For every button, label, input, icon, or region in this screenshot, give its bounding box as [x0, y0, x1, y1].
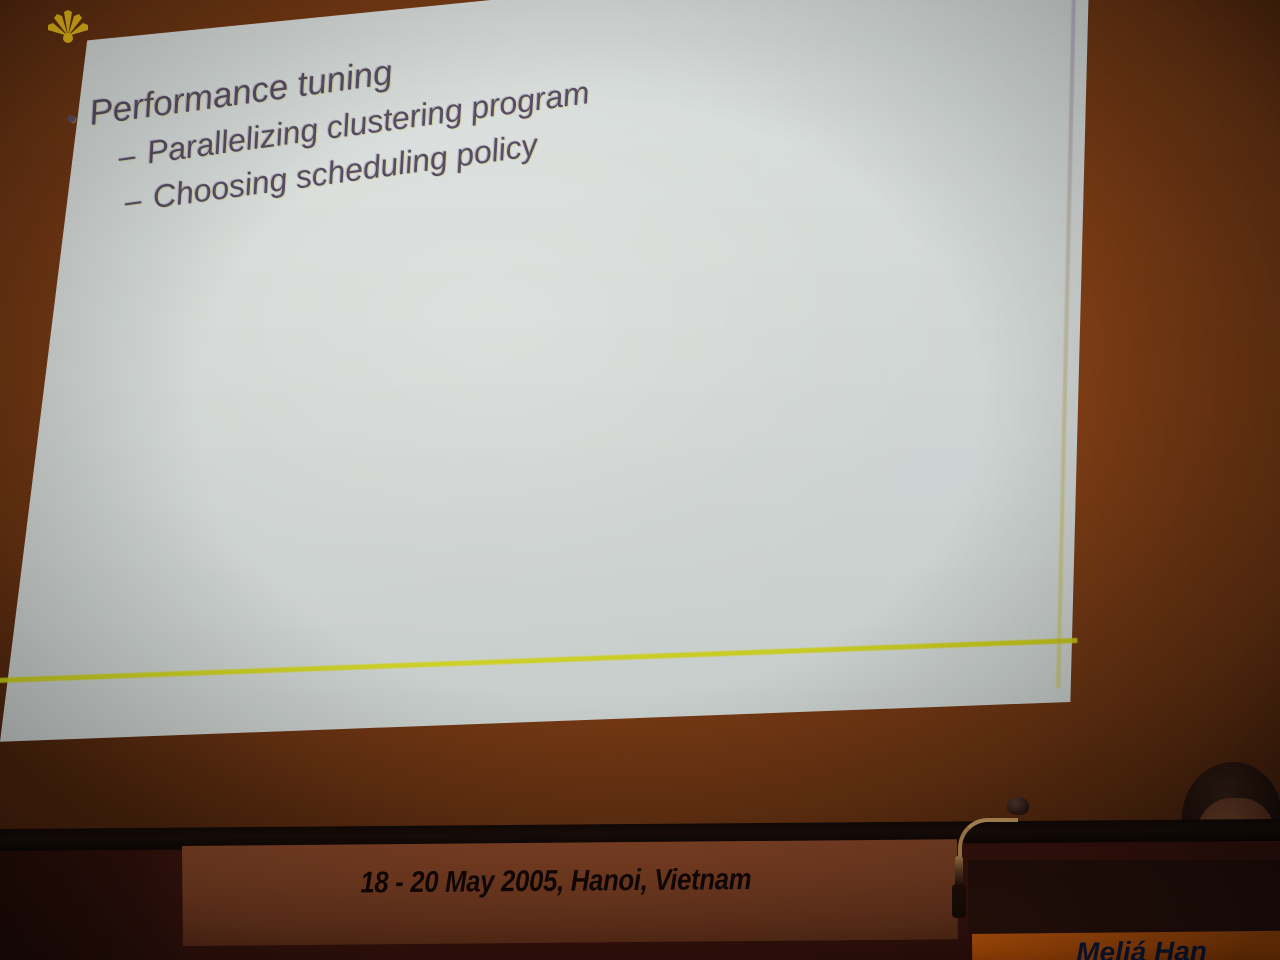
- projection-screen-area: Outline • Performance tuning – Paralleli…: [0, 0, 1090, 770]
- dash-marker-icon: –: [117, 141, 138, 173]
- dash-marker-icon: –: [123, 186, 144, 218]
- conference-banner-panel: 18 - 20 May 2005, Hanoi, Vietnam: [182, 839, 958, 946]
- conference-photo-scene: Outline • Performance tuning – Paralleli…: [0, 0, 1280, 960]
- slide-bullet-list: • Performance tuning – Parallelizing clu…: [64, 27, 598, 227]
- stage-shadow-left: [0, 840, 190, 960]
- microphone-mount-knob: [1007, 797, 1029, 815]
- conference-banner-text: 18 - 20 May 2005, Hanoi, Vietnam: [360, 863, 751, 900]
- sunburst-logo-icon: [46, 6, 90, 50]
- podium-sign-text: Meliá Han: [1076, 936, 1207, 960]
- slide-title: Outline: [372, 0, 537, 3]
- projected-slide: Outline • Performance tuning – Paralleli…: [0, 0, 1089, 770]
- bullet-marker-icon: •: [65, 105, 78, 132]
- podium-sign: Meliá Han: [972, 931, 1280, 960]
- microphone-capsule: [952, 884, 966, 918]
- podium-body: [968, 860, 1280, 940]
